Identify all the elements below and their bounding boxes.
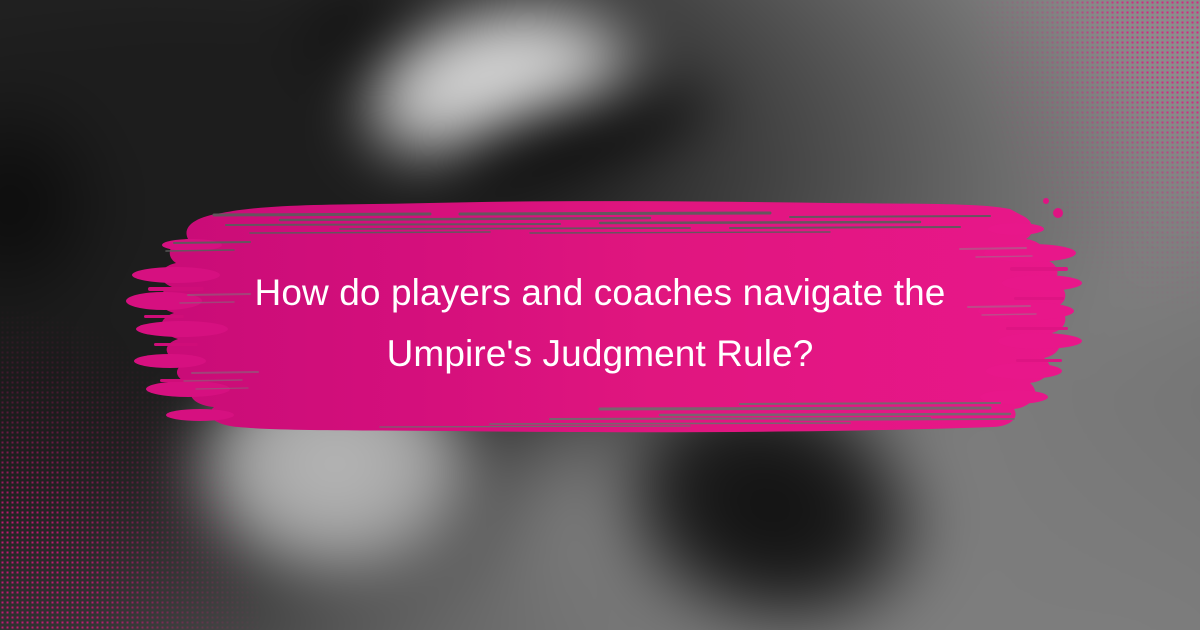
page-title: How do players and coaches navigate the …	[180, 262, 1020, 384]
social-card: How do players and coaches navigate the …	[0, 0, 1200, 630]
